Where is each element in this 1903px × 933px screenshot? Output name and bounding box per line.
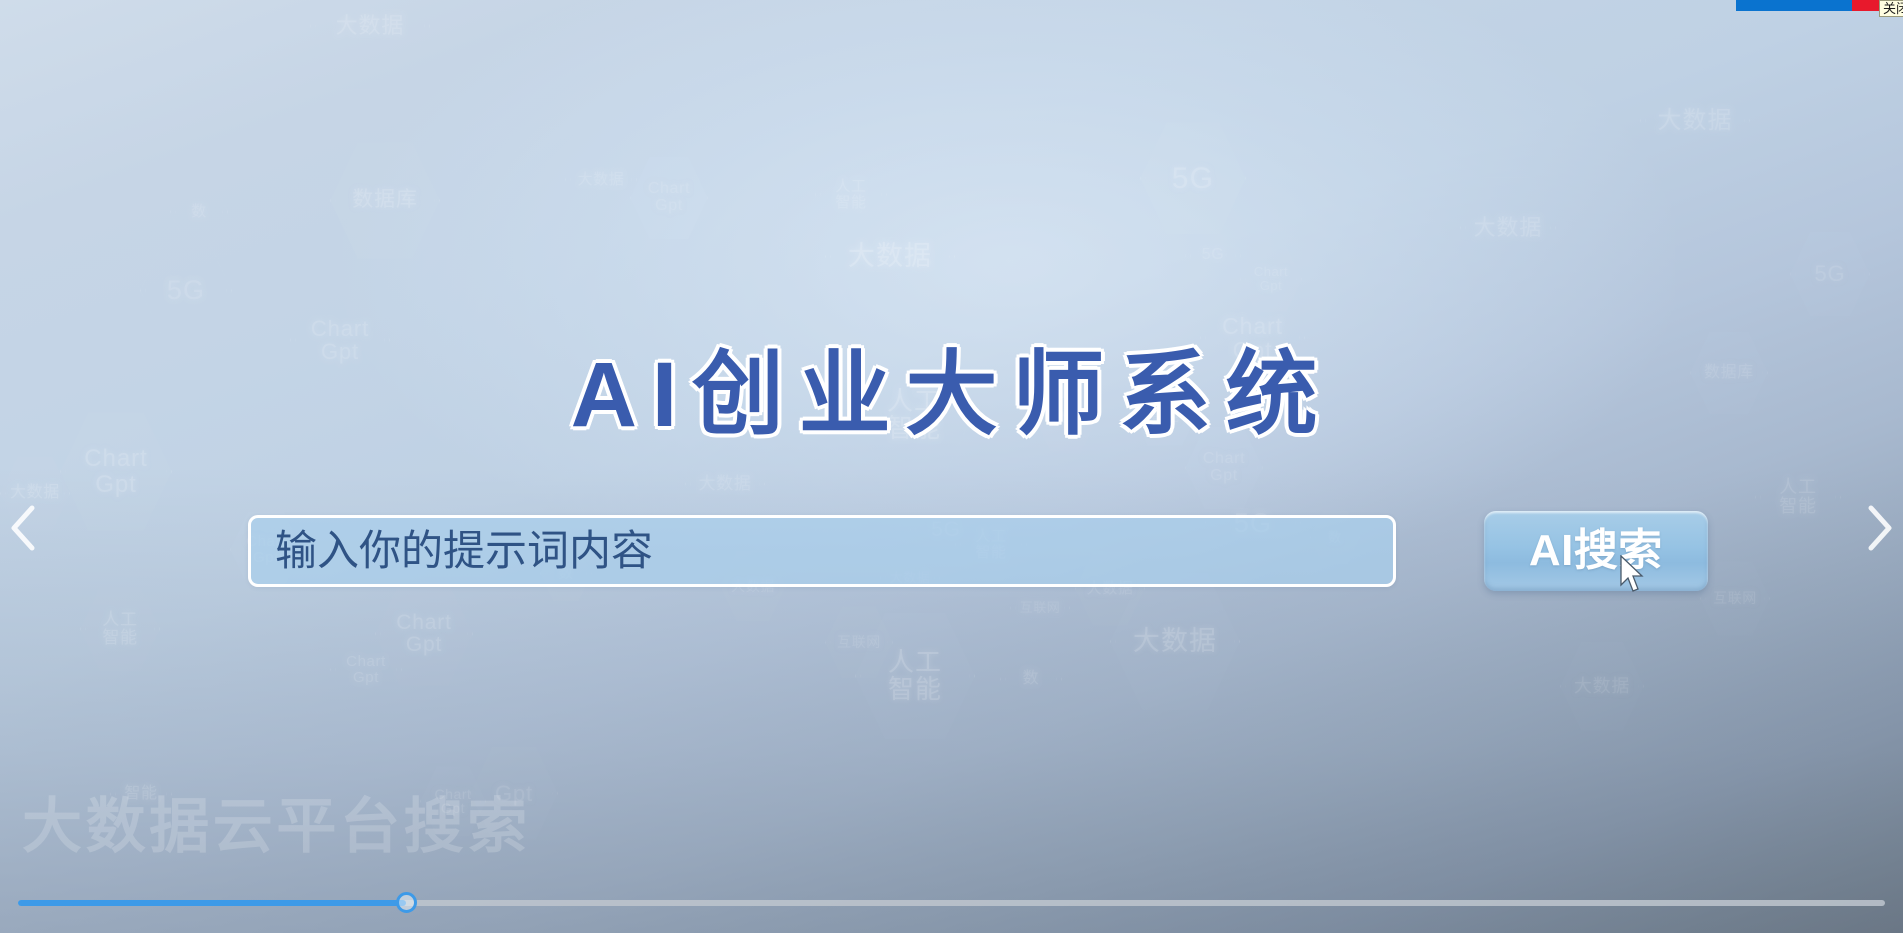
background-hexagon: 大数据 bbox=[1640, 60, 1750, 181]
hexagon-label: 大数据 bbox=[1133, 627, 1217, 655]
hexagon-label: 互联网 bbox=[837, 635, 881, 650]
background-hexagon: 人工 智能 bbox=[815, 155, 887, 234]
hexagon-label: 人工 智能 bbox=[835, 179, 866, 211]
background-watermark-text: 大数据云平台搜索 bbox=[22, 778, 531, 865]
hexagon-inner-outline-icon bbox=[1190, 230, 1236, 282]
hexagon-label: Chart Gpt bbox=[648, 181, 690, 215]
background-glow-top bbox=[343, 0, 1675, 597]
hexagon-label: Chart Gpt bbox=[434, 787, 471, 816]
hexagon-label: 大数据 bbox=[1658, 108, 1733, 133]
hexagon-inner-outline-icon bbox=[1245, 250, 1297, 308]
hexagon-label: Chart Gpt bbox=[84, 446, 148, 496]
hexagon-inner-outline-icon bbox=[1645, 65, 1745, 176]
background-hexagon: 互联网 bbox=[825, 605, 893, 680]
hexagon-outline-icon bbox=[110, 760, 172, 828]
hexagon-outline-icon bbox=[375, 580, 473, 688]
hexagon-label: 互联网 bbox=[1020, 601, 1061, 615]
background-hexagon: 人工 智能 bbox=[1755, 450, 1841, 545]
hexagon-inner-outline-icon bbox=[1465, 180, 1551, 276]
background-hexagon: 5G bbox=[1140, 120, 1246, 237]
hexagon-outline-icon bbox=[330, 630, 402, 709]
background-hexagon: Chart Gpt bbox=[330, 630, 402, 709]
chevron-left-icon bbox=[2, 500, 46, 556]
hexagon-inner-outline-icon bbox=[315, 0, 425, 87]
hexagon-label: 5G bbox=[1172, 163, 1214, 195]
slider-fill bbox=[18, 900, 406, 906]
background-hexagon: 人工 智能 bbox=[80, 585, 160, 673]
hexagon-label: 5G bbox=[1202, 247, 1225, 264]
search-row: AI搜索 bbox=[248, 512, 1708, 590]
top-blue-bar bbox=[1736, 0, 1852, 11]
hexagon-inner-outline-icon bbox=[1115, 575, 1235, 708]
hexagon-inner-outline-icon bbox=[635, 160, 703, 236]
hexagon-inner-outline-icon bbox=[820, 160, 882, 229]
app-root: 大数据数据库数大数据Chart Gpt人工 智能大数据5G5GChart Gpt… bbox=[0, 0, 1903, 933]
hexagon-inner-outline-icon bbox=[335, 635, 397, 704]
hexagon-outline-icon bbox=[310, 0, 430, 92]
hexagon-outline-icon bbox=[1755, 450, 1841, 545]
hexagon-label: 数 bbox=[1023, 671, 1040, 688]
hexagon-label: Chart Gpt bbox=[396, 612, 452, 656]
hexagon-inner-outline-icon bbox=[830, 190, 950, 323]
hexagon-outline-icon bbox=[1640, 60, 1750, 181]
hexagon-label: 互联网 bbox=[1713, 591, 1757, 606]
background-hexagon: 互联网 bbox=[1700, 560, 1770, 637]
hexagon-inner-outline-icon bbox=[175, 185, 223, 239]
hexagon-inner-outline-icon bbox=[425, 770, 481, 833]
hexagon-inner-outline-icon bbox=[1565, 645, 1639, 727]
hexagon-inner-outline-icon bbox=[475, 750, 553, 837]
chevron-right-icon bbox=[1857, 500, 1901, 556]
carousel-next-button[interactable] bbox=[1857, 500, 1901, 556]
background-hexagon: 智能 bbox=[110, 760, 172, 828]
hexagon-label: 5G bbox=[167, 276, 205, 304]
hexagon-outline-icon bbox=[825, 605, 893, 680]
background-hexagon: Chart Gpt bbox=[375, 580, 473, 688]
hexagon-inner-outline-icon bbox=[380, 585, 468, 683]
hexagon-label: 大数据 bbox=[698, 475, 751, 493]
background-hexagon: 大数据 bbox=[565, 140, 637, 219]
hexagon-label: Chart Gpt bbox=[346, 654, 386, 686]
hexagon-outline-icon bbox=[1700, 560, 1770, 637]
background-hexagon: 人工 智能 bbox=[855, 610, 975, 742]
background-hexagon: 大数据 bbox=[1110, 570, 1240, 713]
hexagon-outline-icon bbox=[80, 585, 160, 673]
background-hexagon: Chart Gpt bbox=[630, 155, 708, 241]
ai-search-button[interactable]: AI搜索 bbox=[1484, 511, 1708, 591]
hexagon-outline-icon bbox=[170, 180, 228, 244]
background-hexagon: Chart Gpt bbox=[420, 765, 486, 838]
background-hexagon: 数据库 bbox=[330, 140, 440, 261]
hexagon-label: 人工 智能 bbox=[1779, 478, 1816, 516]
hexagon-inner-outline-icon bbox=[570, 145, 632, 214]
hexagon-label: 人工 智能 bbox=[888, 649, 942, 704]
background-hexagon: Chart Gpt bbox=[1240, 245, 1302, 313]
hexagon-outline-icon bbox=[1185, 225, 1241, 287]
hexagon-label: 大数据 bbox=[578, 172, 625, 188]
hexagon-inner-outline-icon bbox=[335, 145, 435, 256]
hexagon-label: Gpt bbox=[495, 782, 533, 805]
hexagon-outline-icon bbox=[1140, 120, 1246, 237]
background-hexagon: 大数据 bbox=[825, 185, 955, 328]
hexagon-inner-outline-icon bbox=[115, 765, 167, 823]
hexagon-label: Chart Gpt bbox=[1203, 451, 1245, 485]
hexagon-outline-icon bbox=[420, 765, 486, 838]
hexagon-inner-outline-icon bbox=[1760, 455, 1836, 540]
hexagon-inner-outline-icon bbox=[1795, 235, 1865, 313]
hexagon-outline-icon bbox=[855, 610, 975, 742]
page-title: AI创业大师系统 bbox=[0, 320, 1903, 453]
hexagon-inner-outline-icon bbox=[1005, 650, 1057, 708]
hexagon-inner-outline-icon bbox=[860, 615, 970, 737]
bottom-slider[interactable] bbox=[18, 892, 1885, 914]
hexagon-outline-icon bbox=[1790, 230, 1870, 318]
hexagon-label: 人工 智能 bbox=[102, 611, 137, 647]
hexagon-label: 大数据 bbox=[336, 14, 405, 37]
hexagon-label: 大数据 bbox=[1474, 216, 1543, 239]
hexagon-outline-icon bbox=[630, 155, 708, 241]
hexagon-label: 5G bbox=[1814, 262, 1845, 285]
background-hexagon: 大数据 bbox=[1560, 640, 1644, 732]
hexagon-outline-icon bbox=[1240, 245, 1302, 313]
hexagon-label: 大数据 bbox=[848, 242, 932, 270]
background-hexagon: 数 bbox=[170, 180, 228, 244]
hexagon-label: 数据库 bbox=[352, 189, 418, 211]
background-hexagon: 大数据 bbox=[310, 0, 430, 92]
hexagon-label: 智能 bbox=[124, 786, 157, 803]
hexagon-outline-icon bbox=[825, 185, 955, 328]
background-hexagon: 数 bbox=[1000, 645, 1062, 713]
hexagon-outline-icon bbox=[815, 155, 887, 234]
background-hexagon: 大数据 bbox=[1460, 175, 1556, 281]
hexagon-inner-outline-icon bbox=[1705, 565, 1765, 632]
hexagon-label: 大数据 bbox=[1574, 677, 1630, 696]
hexagon-outline-icon bbox=[565, 140, 637, 219]
hexagon-outline-icon bbox=[330, 140, 440, 261]
hexagon-outline-icon bbox=[470, 745, 558, 842]
hexagon-label: Chart Gpt bbox=[1254, 265, 1288, 292]
hexagon-outline-icon bbox=[1000, 645, 1062, 713]
hexagon-outline-icon bbox=[1560, 640, 1644, 732]
slider-thumb[interactable] bbox=[396, 892, 417, 913]
background-hexagon: 5G bbox=[1790, 230, 1870, 318]
hexagon-inner-outline-icon bbox=[85, 590, 155, 668]
hexagon-inner-outline-icon bbox=[830, 610, 888, 675]
hexagon-label: 数 bbox=[191, 204, 207, 220]
carousel-prev-button[interactable] bbox=[2, 500, 46, 556]
background-hexagon: Gpt bbox=[470, 745, 558, 842]
close-tooltip: 关闭 bbox=[1879, 0, 1903, 17]
search-input[interactable] bbox=[248, 515, 1396, 587]
hexagon-inner-outline-icon bbox=[1145, 125, 1241, 232]
hexagon-outline-icon bbox=[1110, 570, 1240, 713]
top-red-bar[interactable] bbox=[1852, 0, 1880, 11]
background-hexagon: 5G bbox=[1185, 225, 1241, 287]
hexagon-outline-icon bbox=[1460, 175, 1556, 281]
